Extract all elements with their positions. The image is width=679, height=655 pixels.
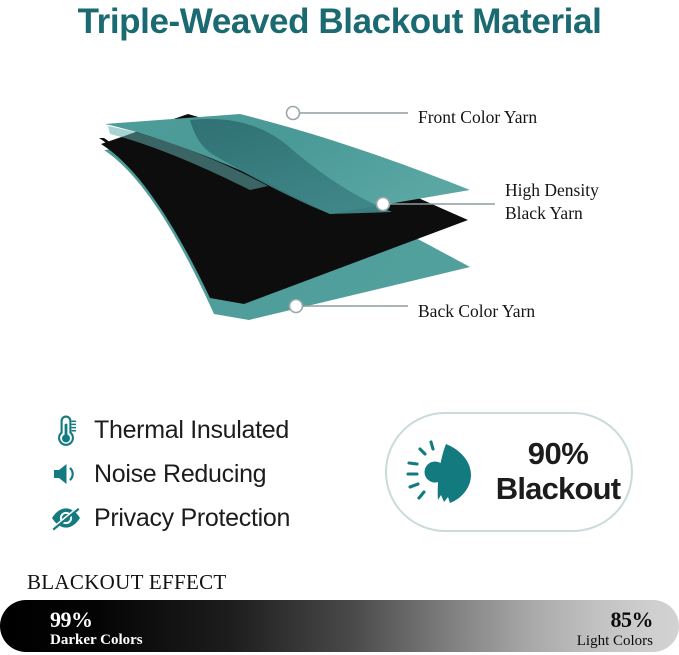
label-high-density-black-yarn: High Density Black Yarn [505, 179, 599, 225]
fabric-layers-diagram: Front Color Yarn High Density Black Yarn… [0, 62, 679, 352]
blackout-badge-text: 90% Blackout [493, 437, 631, 506]
feature-label-privacy-protection: Privacy Protection [94, 504, 290, 533]
blackout-effect-dark-end: 99% Darker Colors [50, 608, 143, 648]
light-end-percent: 85% [577, 608, 653, 633]
blackout-effect-gradient-bar: 99% Darker Colors 85% Light Colors [0, 600, 679, 652]
feature-item-privacy-protection: Privacy Protection [46, 496, 376, 540]
label-middle-line2: Black Yarn [505, 202, 599, 225]
feature-item-noise-reducing: Noise Reducing [46, 452, 376, 496]
blackout-badge: 90% Blackout [385, 412, 633, 532]
blackout-effect-light-end: 85% Light Colors [577, 608, 653, 649]
feature-label-noise-reducing: Noise Reducing [94, 460, 266, 489]
feature-item-thermal-insulated: Thermal Insulated [46, 408, 376, 452]
feature-list: Thermal Insulated Noise Reducing Privacy… [46, 408, 376, 540]
light-end-label: Light Colors [577, 633, 653, 650]
speaker-icon [46, 457, 86, 491]
label-front-color-yarn: Front Color Yarn [418, 106, 537, 129]
leader-front [287, 107, 409, 120]
sun-blocked-icon [397, 426, 493, 518]
dark-end-percent: 99% [50, 608, 143, 632]
eye-off-icon [46, 501, 86, 535]
blackout-percent: 90% [493, 437, 623, 472]
thermometer-icon [46, 413, 86, 447]
label-back-color-yarn: Back Color Yarn [418, 300, 535, 323]
page-title: Triple-Weaved Blackout Material [0, 2, 679, 42]
blackout-word: Blackout [493, 472, 623, 507]
label-middle-line1: High Density [505, 179, 599, 202]
dark-end-label: Darker Colors [50, 632, 143, 648]
feature-label-thermal-insulated: Thermal Insulated [94, 416, 289, 445]
blackout-effect-heading: BLACKOUT EFFECT [27, 570, 227, 595]
